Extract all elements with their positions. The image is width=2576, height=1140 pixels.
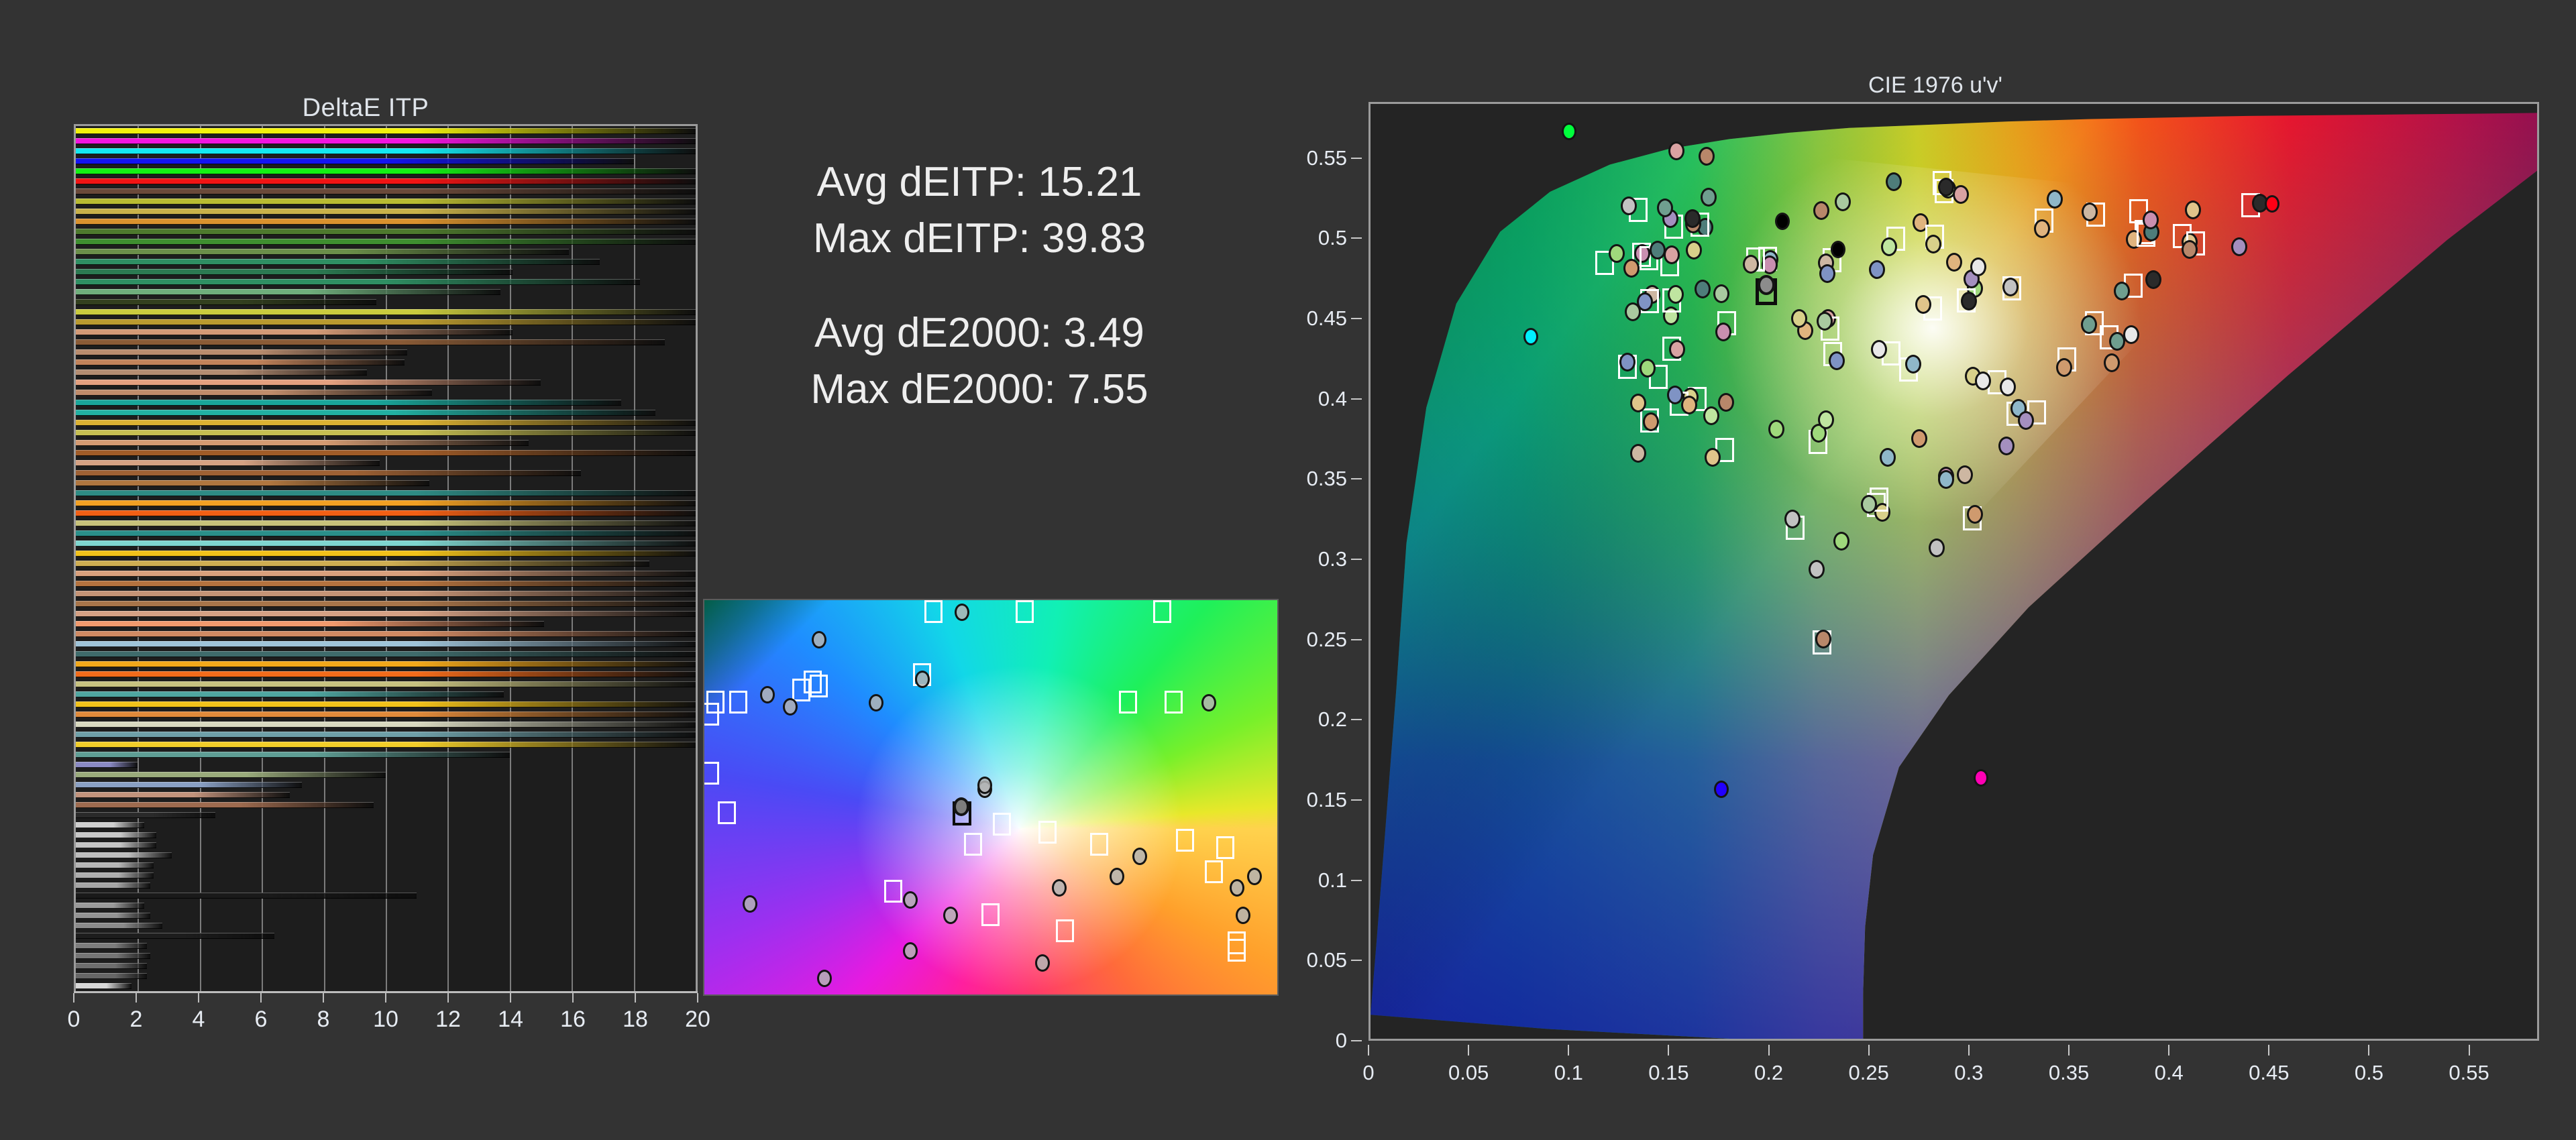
deltae-bar bbox=[76, 973, 147, 979]
axis-tick bbox=[1351, 960, 1362, 961]
cie-measured-circle bbox=[1818, 410, 1834, 429]
axis-tick-label: 0.4 bbox=[1318, 387, 1347, 411]
deltae-bar bbox=[76, 219, 696, 225]
deltae-bar bbox=[76, 762, 138, 768]
deltae-bar bbox=[76, 128, 696, 134]
deltae-bar bbox=[76, 299, 376, 305]
deltae-bar bbox=[76, 872, 154, 878]
axis-tick-label: 20 bbox=[685, 1007, 710, 1033]
deltae-itp-panel: DeltaE ITP 02468101214161820 bbox=[27, 74, 704, 1066]
axis-tick bbox=[1351, 1040, 1362, 1041]
ab-target-square bbox=[981, 903, 1000, 926]
ab-plane-panel bbox=[703, 599, 1279, 996]
deltae-bar bbox=[76, 621, 544, 627]
deltae-bar bbox=[76, 460, 380, 466]
deltae-bar bbox=[76, 711, 696, 718]
ab-target-square bbox=[1038, 821, 1057, 844]
axis-tick-label: 0.15 bbox=[1648, 1061, 1688, 1085]
axis-tick bbox=[635, 993, 636, 1003]
cie-measured-circle bbox=[1833, 532, 1849, 551]
deltae-bar bbox=[76, 198, 696, 205]
deltae-bar bbox=[76, 209, 696, 215]
axis-tick-label: 0.2 bbox=[1318, 707, 1347, 732]
ab-measured-circle bbox=[1201, 694, 1216, 711]
cie-measured-circle bbox=[2145, 270, 2161, 289]
ab-measured-circle bbox=[903, 891, 918, 909]
cie-y-axis-labels: 00.050.10.150.20.250.30.350.40.450.50.55 bbox=[1315, 102, 1362, 1041]
axis-tick-label: 0.3 bbox=[1318, 547, 1347, 571]
axis-tick bbox=[1351, 158, 1362, 159]
axis-tick-label: 14 bbox=[498, 1007, 523, 1033]
deltae-bar bbox=[76, 842, 156, 848]
deltae-bar bbox=[76, 611, 696, 617]
axis-tick-label: 0.35 bbox=[1307, 467, 1347, 491]
ab-target-square bbox=[964, 833, 982, 856]
deltae-bar bbox=[76, 380, 541, 386]
cie-measured-circle bbox=[1925, 235, 1941, 253]
summary-stats: Avg dEITP: 15.21 Max dEITP: 39.83 Avg dE… bbox=[738, 154, 1221, 418]
cie-primary-marker bbox=[1523, 328, 1538, 345]
ab-measured-circle bbox=[869, 694, 883, 711]
ab-measured-circle bbox=[1247, 868, 1262, 885]
ab-measured-circle bbox=[1230, 879, 1244, 897]
deltae-bar bbox=[76, 289, 500, 295]
cie-measured-circle bbox=[2047, 190, 2063, 209]
deltae-bar bbox=[76, 913, 150, 919]
cie-measured-circle bbox=[1625, 302, 1641, 321]
cie-measured-circle bbox=[1681, 396, 1697, 414]
cie-measured-circle bbox=[1881, 237, 1897, 256]
cie-measured-circle bbox=[1957, 465, 1973, 484]
axis-tick bbox=[447, 993, 449, 1003]
ab-measured-circle bbox=[1132, 848, 1147, 865]
axis-tick bbox=[1351, 639, 1362, 640]
deltae-bar bbox=[76, 279, 640, 285]
axis-tick-label: 0.55 bbox=[2449, 1061, 2489, 1085]
deltae-bar bbox=[76, 923, 162, 929]
deltae-bar bbox=[76, 963, 147, 969]
deltae-bar bbox=[76, 440, 529, 446]
cie-measured-circle bbox=[1938, 470, 1954, 489]
deltae-bar bbox=[76, 641, 696, 647]
ab-target-square bbox=[1228, 931, 1246, 954]
deltae-bar bbox=[76, 792, 290, 798]
ab-target-square bbox=[1056, 919, 1074, 942]
axis-tick-label: 0.05 bbox=[1448, 1061, 1489, 1085]
deltae-bar bbox=[76, 480, 429, 486]
cie-measured-circle bbox=[1768, 420, 1784, 439]
cie-measured-circle bbox=[1705, 448, 1721, 467]
cie-measured-circle bbox=[1619, 353, 1635, 372]
ab-target-square bbox=[1090, 833, 1108, 856]
deltae-bar bbox=[76, 571, 696, 577]
cie-measured-circle bbox=[2114, 282, 2130, 300]
axis-tick bbox=[73, 993, 74, 1003]
axis-tick-label: 6 bbox=[255, 1007, 268, 1033]
deltae-gridline bbox=[696, 126, 697, 991]
axis-tick bbox=[1351, 237, 1362, 239]
cie-measured-circle bbox=[1791, 309, 1807, 328]
cie-measured-circle bbox=[1668, 285, 1684, 304]
cie-measured-circle bbox=[1815, 630, 1831, 648]
axis-tick-label: 0.15 bbox=[1307, 788, 1347, 812]
ab-measured-circle bbox=[1236, 907, 1250, 924]
cie-measured-circle bbox=[1686, 241, 1702, 260]
cie-measured-circle bbox=[1713, 284, 1729, 303]
ab-measured-circle bbox=[1035, 954, 1050, 972]
cie-measured-circle bbox=[1880, 448, 1896, 467]
cie-measured-circle bbox=[1869, 260, 1885, 279]
cie-measured-circle bbox=[1640, 359, 1656, 378]
axis-tick bbox=[2068, 1045, 2070, 1056]
deltae-bar bbox=[76, 591, 696, 597]
ab-target-square bbox=[706, 691, 724, 714]
cie-measured-circle bbox=[2143, 211, 2159, 229]
cie-measured-circle bbox=[1623, 259, 1640, 278]
cie-measured-circle bbox=[1630, 444, 1646, 463]
cie-measured-circle bbox=[1946, 253, 1962, 272]
deltae-bar bbox=[76, 359, 405, 365]
cie-measured-circle bbox=[2056, 358, 2072, 377]
cie-primary-marker bbox=[1714, 781, 1729, 798]
cie-measured-circle bbox=[2182, 240, 2198, 259]
axis-tick-label: 0.45 bbox=[1307, 306, 1347, 331]
deltae-bar bbox=[76, 671, 696, 677]
deltae-bar bbox=[76, 903, 144, 909]
cie-measured-circle bbox=[1813, 201, 1829, 220]
deltae-bar bbox=[76, 490, 696, 496]
deltae-bar bbox=[76, 339, 665, 345]
ab-target-square bbox=[703, 762, 719, 785]
axis-tick-label: 0 bbox=[1362, 1061, 1374, 1085]
cie-measured-circle bbox=[1715, 323, 1731, 341]
axis-tick-label: 0.25 bbox=[1307, 628, 1347, 652]
axis-tick bbox=[1351, 880, 1362, 881]
cie-measured-circle bbox=[2123, 325, 2139, 344]
axis-tick-label: 0.55 bbox=[1307, 146, 1347, 170]
cie-measured-circle bbox=[1699, 147, 1715, 166]
cie-measured-circle bbox=[2018, 411, 2034, 430]
deltae-bar bbox=[76, 239, 696, 245]
axis-tick bbox=[1768, 1045, 1770, 1056]
deltae-bar bbox=[76, 269, 513, 275]
deltae-bar bbox=[76, 832, 156, 838]
deltae-bar bbox=[76, 631, 696, 637]
axis-tick-label: 4 bbox=[193, 1007, 205, 1033]
cie-measured-circle bbox=[1664, 245, 1680, 264]
ab-target-square bbox=[993, 813, 1011, 836]
deltae-bar bbox=[76, 701, 696, 707]
axis-tick-label: 0 bbox=[68, 1007, 80, 1033]
ab-target-square bbox=[1016, 600, 1034, 623]
deltae-bar bbox=[76, 470, 581, 476]
cie-measured-circle bbox=[1743, 255, 1759, 274]
deltae-bar bbox=[76, 953, 150, 959]
deltae-bar bbox=[76, 742, 696, 748]
ab-measured-circle bbox=[915, 671, 930, 688]
ab-target-square bbox=[810, 675, 828, 697]
axis-tick-label: 10 bbox=[373, 1007, 398, 1033]
deltae-bar bbox=[76, 158, 634, 164]
ab-target-square bbox=[792, 679, 810, 701]
cie-measured-circle bbox=[1657, 198, 1673, 217]
ab-measured-circle bbox=[760, 686, 775, 703]
deltae-bar bbox=[76, 530, 696, 536]
axis-tick-label: 12 bbox=[435, 1007, 461, 1033]
deltae-bar bbox=[76, 852, 172, 858]
cie-uv-panel: CIE 1976 u'v' 00.050.10.150.20.250.30.35… bbox=[1315, 60, 2556, 1080]
deltae-bar bbox=[76, 148, 696, 154]
ab-target-square bbox=[718, 801, 736, 824]
ab-measured-circle bbox=[1110, 868, 1124, 885]
axis-tick-label: 0.35 bbox=[2049, 1061, 2089, 1085]
deltae-bar bbox=[76, 410, 655, 416]
axis-tick bbox=[136, 993, 137, 1003]
ab-measured-circle bbox=[1052, 879, 1067, 897]
deltae-bar bbox=[76, 188, 696, 194]
cie-measured-circle bbox=[1609, 244, 1625, 263]
cie-primary-marker bbox=[1562, 123, 1576, 140]
deltae-bar bbox=[76, 178, 696, 184]
deltae-bar bbox=[76, 259, 600, 265]
axis-tick bbox=[1351, 799, 1362, 801]
axis-tick-label: 0 bbox=[1336, 1029, 1347, 1053]
axis-tick bbox=[1368, 1045, 1369, 1056]
cie-measured-circle bbox=[1669, 340, 1685, 359]
axis-tick-label: 0.25 bbox=[1849, 1061, 1889, 1085]
cie-chart-title: CIE 1976 u'v' bbox=[1315, 72, 2556, 99]
ab-target-square bbox=[924, 600, 943, 623]
deltae-bar bbox=[76, 138, 696, 144]
axis-tick-label: 0.3 bbox=[1954, 1061, 1983, 1085]
axis-tick bbox=[323, 993, 324, 1003]
deltae-bar bbox=[76, 772, 386, 778]
deltae-bar bbox=[76, 540, 696, 547]
deltae-bar bbox=[76, 420, 696, 426]
axis-tick-label: 0.5 bbox=[1318, 226, 1347, 250]
deltae-bar bbox=[76, 319, 696, 325]
axis-tick-label: 0.05 bbox=[1307, 948, 1347, 972]
deltae-bar bbox=[76, 309, 696, 315]
deltae-bar bbox=[76, 249, 569, 255]
cie-measured-circle bbox=[2104, 353, 2120, 372]
ab-markers-layer bbox=[704, 600, 1277, 994]
axis-tick bbox=[1351, 478, 1362, 479]
cie-measured-circle bbox=[1718, 393, 1734, 412]
axis-tick bbox=[697, 993, 698, 1003]
ab-measured-circle bbox=[943, 907, 958, 924]
cie-measured-circle bbox=[2034, 219, 2050, 238]
ab-measured-circle bbox=[955, 604, 969, 621]
cie-primary-marker bbox=[1974, 769, 1988, 787]
cie-measured-circle bbox=[1829, 351, 1845, 370]
deltae-bar bbox=[76, 893, 417, 899]
axis-tick bbox=[1468, 1045, 1469, 1056]
deltae-bar bbox=[76, 651, 696, 657]
avg-de2000-value: Avg dE2000: 3.49 bbox=[738, 305, 1221, 361]
axis-tick bbox=[198, 993, 199, 1003]
deltae-bar bbox=[76, 551, 696, 557]
cie-black-marker bbox=[1775, 213, 1790, 230]
deltae-bar bbox=[76, 329, 513, 335]
deltae-bar bbox=[76, 349, 407, 355]
cie-black-marker bbox=[1831, 241, 1845, 258]
deltae-bar bbox=[76, 862, 154, 868]
axis-tick bbox=[1351, 559, 1362, 560]
cie-measured-circle bbox=[1905, 355, 1921, 374]
deltae-bar bbox=[76, 601, 696, 607]
max-de2000-value: Max dE2000: 7.55 bbox=[738, 361, 1221, 418]
deltae-bar bbox=[76, 691, 504, 697]
axis-tick-label: 8 bbox=[317, 1007, 330, 1033]
cie-measured-circle bbox=[1953, 185, 1969, 204]
ab-target-square bbox=[729, 691, 747, 714]
cie-measured-circle bbox=[1929, 538, 1945, 557]
deltae-bar bbox=[76, 822, 144, 828]
deltae-bar bbox=[76, 882, 150, 889]
cie-measured-circle bbox=[2002, 278, 2019, 296]
cie-measured-circle bbox=[1809, 560, 1825, 579]
cie-measured-circle bbox=[1695, 280, 1711, 298]
deltae-chart-title: DeltaE ITP bbox=[27, 94, 704, 123]
cie-measured-circle bbox=[1938, 178, 1954, 196]
ab-measured-circle bbox=[903, 942, 918, 960]
cie-markers-layer bbox=[1371, 104, 2537, 1039]
app-root: DeltaE ITP 02468101214161820 Avg dEITP: … bbox=[0, 0, 2576, 1140]
deltae-bar bbox=[76, 933, 274, 939]
deltae-bar bbox=[76, 812, 215, 818]
axis-tick-label: 0.4 bbox=[2155, 1061, 2184, 1085]
axis-tick-label: 0.2 bbox=[1754, 1061, 1783, 1085]
deltae-bar bbox=[76, 561, 649, 567]
cie-x-axis-labels: 00.050.10.150.20.250.30.350.40.450.50.55 bbox=[1368, 1045, 2539, 1092]
ab-measured-circle bbox=[743, 895, 757, 913]
axis-tick bbox=[2469, 1045, 2470, 1056]
cie-measured-circle bbox=[1915, 295, 1931, 314]
ab-target-square bbox=[1119, 691, 1137, 714]
cie-measured-circle bbox=[1701, 188, 1717, 207]
deltae-bar bbox=[76, 168, 696, 174]
axis-tick bbox=[1868, 1045, 1870, 1056]
axis-tick bbox=[572, 993, 574, 1003]
cie-measured-circle bbox=[1630, 394, 1646, 412]
cie-measured-circle bbox=[1886, 172, 1902, 191]
axis-tick-label: 0.5 bbox=[2355, 1061, 2383, 1085]
deltae-bar bbox=[76, 430, 696, 436]
deltae-bar bbox=[76, 450, 696, 456]
axis-tick bbox=[385, 993, 386, 1003]
deltae-bar bbox=[76, 732, 696, 738]
cie-primary-marker bbox=[2265, 195, 2279, 213]
stats-spacer bbox=[738, 268, 1221, 305]
cie-measured-circle bbox=[2000, 378, 2016, 396]
cie-measured-circle bbox=[1703, 406, 1719, 425]
axis-tick-label: 2 bbox=[130, 1007, 143, 1033]
max-deitp-value: Max dEITP: 39.83 bbox=[738, 211, 1221, 267]
cie-measured-circle bbox=[1861, 495, 1877, 514]
cie-measured-circle bbox=[2231, 237, 2247, 256]
cie-measured-circle bbox=[1998, 437, 2015, 455]
axis-tick-label: 0.1 bbox=[1554, 1061, 1583, 1085]
axis-tick-label: 0.45 bbox=[2249, 1061, 2289, 1085]
cie-measured-circle bbox=[2082, 203, 2098, 221]
axis-tick bbox=[1351, 318, 1362, 319]
deltae-bars bbox=[76, 126, 696, 991]
axis-tick bbox=[1668, 1045, 1669, 1056]
axis-tick bbox=[2268, 1045, 2269, 1056]
deltae-bar bbox=[76, 400, 621, 406]
avg-deitp-value: Avg dEITP: 15.21 bbox=[738, 154, 1221, 211]
ab-target-square bbox=[1205, 860, 1223, 883]
deltae-bar bbox=[76, 983, 131, 989]
cie-measured-circle bbox=[1975, 372, 1991, 390]
deltae-bar bbox=[76, 752, 510, 758]
axis-tick-label: 16 bbox=[560, 1007, 586, 1033]
axis-tick bbox=[1568, 1045, 1569, 1056]
axis-tick bbox=[1968, 1045, 1970, 1056]
axis-tick bbox=[1351, 719, 1362, 720]
axis-tick-label: 18 bbox=[623, 1007, 648, 1033]
axis-tick-label: 0.1 bbox=[1318, 868, 1347, 893]
deltae-bar bbox=[76, 500, 696, 506]
ab-target-square bbox=[884, 880, 902, 903]
deltae-bar bbox=[76, 943, 147, 949]
deltae-bar bbox=[76, 369, 367, 376]
cie-measured-circle bbox=[1668, 141, 1684, 160]
deltae-bar bbox=[76, 661, 696, 667]
deltae-x-axis: 02468101214161820 bbox=[74, 991, 698, 997]
ab-target-square bbox=[1176, 829, 1194, 852]
deltae-plot-area bbox=[74, 124, 698, 993]
axis-tick bbox=[2368, 1045, 2369, 1056]
deltae-bar bbox=[76, 802, 374, 808]
cie-measured-circle bbox=[1819, 264, 1835, 283]
deltae-bar bbox=[76, 510, 696, 516]
axis-tick bbox=[510, 993, 511, 1003]
ab-measured-circle bbox=[817, 970, 832, 987]
cie-measured-circle bbox=[1970, 258, 1986, 276]
axis-tick bbox=[2168, 1045, 2169, 1056]
cie-measured-circle bbox=[1967, 505, 1983, 524]
ab-measured-circle bbox=[783, 698, 798, 716]
cie-measured-circle bbox=[1911, 429, 1927, 448]
cie-measured-circle bbox=[1871, 340, 1887, 359]
deltae-bar bbox=[76, 229, 696, 235]
cie-measured-circle bbox=[1835, 192, 1851, 211]
deltae-bar bbox=[76, 390, 432, 396]
axis-tick bbox=[260, 993, 262, 1003]
ab-target-square bbox=[1216, 836, 1234, 859]
deltae-bar bbox=[76, 782, 302, 788]
cie-measured-circle bbox=[2185, 201, 2201, 219]
deltae-bar bbox=[76, 581, 696, 587]
ab-measured-circle bbox=[812, 631, 826, 648]
cie-measured-circle bbox=[1684, 209, 1701, 228]
cie-plot-area bbox=[1368, 102, 2539, 1041]
deltae-bar bbox=[76, 520, 696, 526]
deltae-bar bbox=[76, 681, 696, 687]
deltae-bar bbox=[76, 722, 696, 728]
ab-target-square bbox=[1153, 600, 1171, 623]
ab-target-square bbox=[1165, 691, 1183, 714]
axis-tick bbox=[1351, 398, 1362, 400]
cie-measured-circle bbox=[2081, 315, 2097, 334]
ab-selected-circle bbox=[953, 797, 969, 816]
